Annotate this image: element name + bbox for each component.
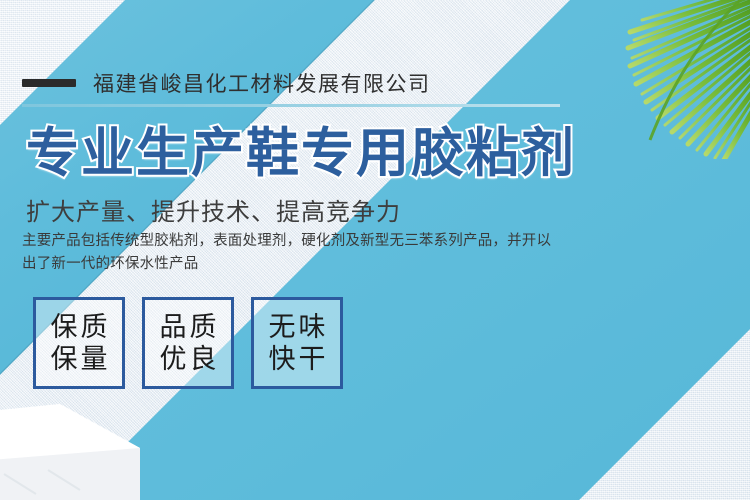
- company-name: 福建省峻昌化工材料发展有限公司: [93, 68, 431, 98]
- feature-box-row: 保质 保量 品质 优良 无味 快干: [33, 297, 343, 389]
- feature-box-2: 品质 优良: [142, 297, 234, 389]
- horizontal-rule: [22, 104, 560, 107]
- feature-box-1: 保质 保量: [33, 297, 125, 389]
- feature-box-3: 无味 快干: [251, 297, 343, 389]
- content-layer: 福建省峻昌化工材料发展有限公司 专业生产鞋专用胶粘剂 扩大产量、提升技术、提高竞…: [0, 0, 750, 500]
- feature-box-2-line-2: 优良: [157, 343, 220, 375]
- feature-box-3-line-1: 无味: [266, 311, 329, 343]
- headline: 专业生产鞋专用胶粘剂: [26, 124, 576, 184]
- body-line-2: 出了新一代的环保水性产品: [22, 253, 542, 276]
- body-line-1: 主要产品包括传统型胶粘剂，表面处理剂，硬化剂及新型无三苯系列产品，并开以: [22, 230, 542, 253]
- company-row: 福建省峻昌化工材料发展有限公司: [22, 68, 431, 98]
- dash-mark-icon: [22, 79, 76, 87]
- feature-box-1-line-1: 保质: [48, 311, 111, 343]
- promo-banner: 福建省峻昌化工材料发展有限公司 专业生产鞋专用胶粘剂 扩大产量、提升技术、提高竞…: [0, 0, 750, 500]
- feature-box-3-line-2: 快干: [266, 343, 329, 375]
- feature-box-2-line-1: 品质: [157, 311, 220, 343]
- body-text: 主要产品包括传统型胶粘剂，表面处理剂，硬化剂及新型无三苯系列产品，并开以 出了新…: [22, 230, 542, 276]
- feature-box-1-line-2: 保量: [48, 343, 111, 375]
- subheadline: 扩大产量、提升技术、提高竞争力: [26, 192, 401, 227]
